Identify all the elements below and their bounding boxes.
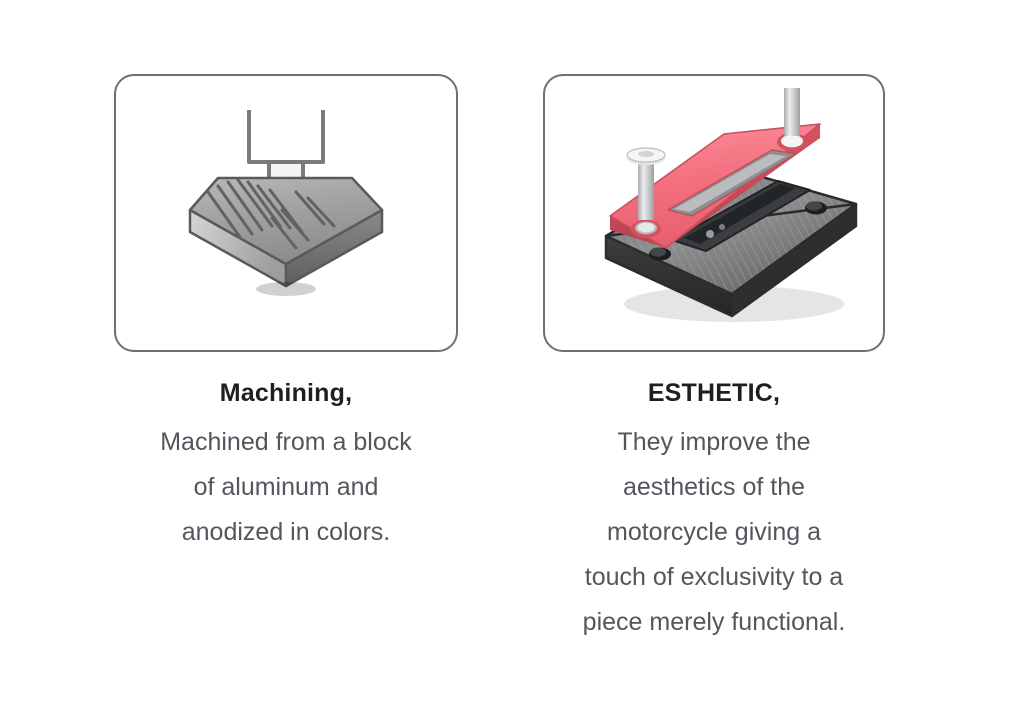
body-line: aesthetics of the xyxy=(583,465,846,510)
body-line: motorcycle giving a xyxy=(583,510,846,555)
features-page: Machining, Machined from a block of alum… xyxy=(0,0,1024,707)
feature-esthetic: ESTHETIC, They improve the aesthetics of… xyxy=(543,74,885,645)
machining-card xyxy=(114,74,458,352)
body-line: of aluminum and xyxy=(160,465,412,510)
workpiece-shadow xyxy=(256,282,316,296)
esthetic-icon-stage xyxy=(545,76,883,350)
body-line: anodized in colors. xyxy=(160,510,412,555)
feature-body-machining: Machined from a block of aluminum and an… xyxy=(160,409,412,555)
body-line: touch of exclusivity to a xyxy=(583,555,846,600)
feature-title-machining: Machining, xyxy=(220,352,353,409)
workpiece-block xyxy=(190,178,382,296)
body-line: piece merely functional. xyxy=(583,600,846,645)
feature-body-esthetic: They improve the aesthetics of the motor… xyxy=(583,409,846,645)
body-line: They improve the xyxy=(583,420,846,465)
milling-tool-holder xyxy=(249,110,323,162)
body-line: Machined from a block xyxy=(160,420,412,465)
feature-title-esthetic: ESTHETIC, xyxy=(648,352,780,409)
cnc-milling-icon xyxy=(156,106,416,321)
esthetic-card xyxy=(543,74,885,352)
feature-machining: Machining, Machined from a block of alum… xyxy=(114,74,458,555)
anodized-bracket-icon xyxy=(564,88,864,338)
machining-icon-stage xyxy=(116,76,456,350)
features-row: Machining, Machined from a block of alum… xyxy=(0,0,1024,707)
